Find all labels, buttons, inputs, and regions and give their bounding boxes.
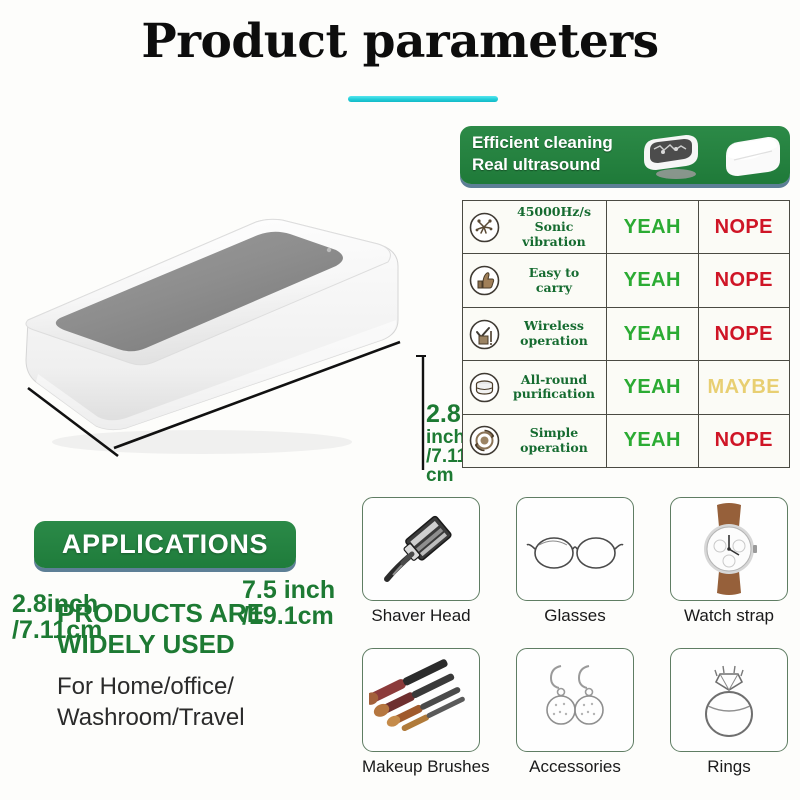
product-parameters-infographic: Product parameters [0,0,800,800]
ours-value: YEAH [607,254,699,306]
feature-label: Wireless operation [505,319,606,349]
ours-value: YEAH [607,361,699,413]
ring-photo [686,656,772,744]
feature-label: All-round purification [505,373,606,403]
application-item-accessories: Accessories [516,648,634,777]
application-item-rings: Rings [670,648,788,777]
ours-value: YEAH [607,201,699,253]
application-item-glasses: Glasses [516,497,634,626]
applications-badge: APPLICATIONS [34,521,296,568]
feature-cell: Wireless operation [463,308,607,360]
table-row: 45000Hz/s Sonic vibration YEAH NOPE [463,201,789,254]
application-item-shaver-head: Shaver Head [362,497,480,626]
thumbs-up-icon [463,264,505,297]
application-thumb [362,497,480,601]
page-title: Product parameters [0,14,800,69]
others-value: NOPE [699,415,790,467]
application-thumb [516,497,634,601]
feature-cell: Simple operation [463,415,607,467]
table-row: Easy to carry YEAH NOPE [463,254,789,307]
others-value: MAYBE [699,361,790,413]
closed-cleaner-photo [722,130,784,180]
feature-label: Simple operation [505,426,606,456]
application-label: Accessories [516,757,634,777]
table-row: Wireless operation YEAH NOPE [463,308,789,361]
applications-subtext: For Home/office/ Washroom/Travel [57,672,337,733]
jar-purification-icon [463,371,505,404]
feature-cell: 45000Hz/s Sonic vibration [463,201,607,253]
feature-cell: All-round purification [463,361,607,413]
ours-value: YEAH [607,415,699,467]
application-label: Rings [670,757,788,777]
applications-badge-label: APPLICATIONS [62,529,268,560]
others-value: NOPE [699,201,790,253]
makeup-brushes-photo [369,658,473,742]
shaver-head-photo [373,505,469,593]
others-value: NOPE [699,308,790,360]
product-image-block: 2.8 inch /7.11 cm 7.5 inch /19.1cm 2.8in… [6,170,426,470]
ours-value: YEAH [607,308,699,360]
application-thumb [362,648,480,752]
table-row: Simple operation YEAH NOPE [463,415,789,467]
simple-operation-icon [463,424,505,457]
feature-cell: Easy to carry [463,254,607,306]
others-value: NOPE [699,254,790,306]
application-label: Makeup Brushes [362,757,480,777]
feature-label: Easy to carry [505,266,606,296]
banner-text: Efficient cleaning Real ultrasound [472,132,613,177]
glasses-photo [525,519,625,579]
comparison-table: 45000Hz/s Sonic vibration YEAH NOPE Easy… [462,200,790,468]
feature-label: 45000Hz/s Sonic vibration [505,205,606,249]
application-label: Glasses [516,606,634,626]
table-row: All-round purification YEAH MAYBE [463,361,789,414]
application-item-makeup-brushes: Makeup Brushes [362,648,480,777]
earrings-photo [531,654,619,746]
watch-photo [693,501,765,597]
application-label: Watch strap [670,606,788,626]
applications-grid: Shaver Head Glasses [356,495,796,795]
application-label: Shaver Head [362,606,480,626]
title-underline-rule [348,96,498,102]
open-cleaner-photo [636,130,712,180]
sonic-vibration-icon [463,211,505,244]
wireless-check-icon [463,318,505,351]
application-thumb [670,648,788,752]
application-item-watch-strap: Watch strap [670,497,788,626]
applications-heading: PRODUCTS ARE WIDELY USED [57,598,317,660]
application-thumb [516,648,634,752]
efficient-cleaning-banner: Efficient cleaning Real ultrasound [460,126,790,184]
application-thumb [670,497,788,601]
ultrasonic-cleaner-illustration [6,170,426,470]
